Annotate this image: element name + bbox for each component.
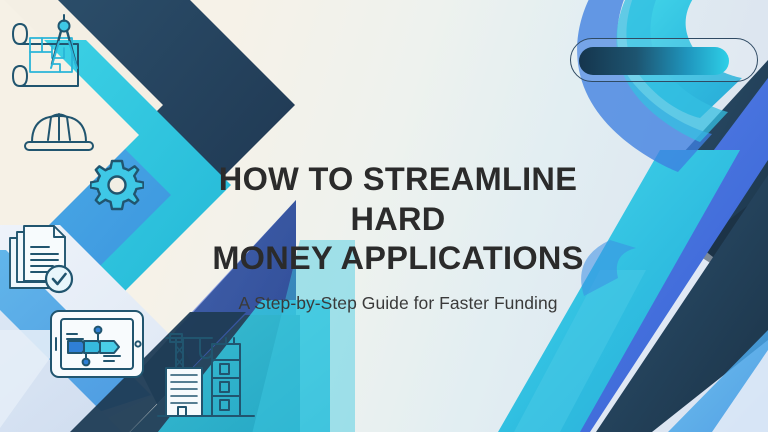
- page-title: HOW TO STREAMLINE HARD MONEY APPLICATION…: [168, 160, 628, 279]
- title-line-1: HOW TO STREAMLINE HARD: [168, 160, 628, 239]
- document-stack-check-icon: [6, 220, 84, 300]
- blueprint-compass-icon: [6, 12, 98, 96]
- title-text-block: HOW TO STREAMLINE HARD MONEY APPLICATION…: [168, 160, 628, 314]
- tablet-workflow-icon: [48, 308, 146, 380]
- title-slide: HOW TO STREAMLINE HARD MONEY APPLICATION…: [0, 0, 768, 432]
- progress-bar-fill: [579, 47, 729, 75]
- progress-bar-track[interactable]: [570, 38, 758, 82]
- construction-crane-icon: [152, 312, 260, 426]
- gear-icon: [90, 158, 144, 212]
- hard-hat-icon: [20, 100, 98, 158]
- page-subtitle: A Step-by-Step Guide for Faster Funding: [168, 293, 628, 314]
- title-line-2: MONEY APPLICATIONS: [168, 239, 628, 279]
